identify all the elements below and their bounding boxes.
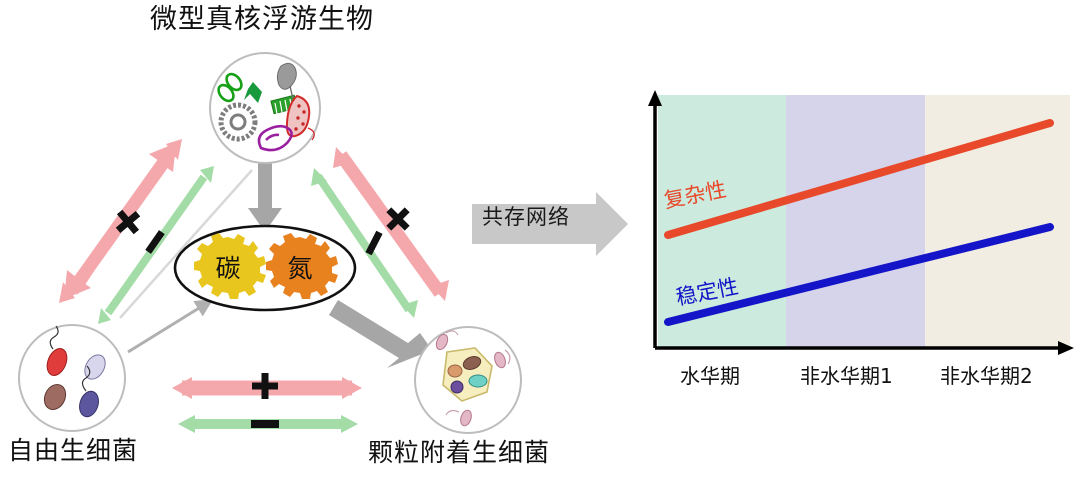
nutrient-cycle-oval: 碳 氮 — [175, 226, 355, 310]
gear-carbon-label: 碳 — [215, 254, 240, 283]
chart-band-nonbloom2 — [925, 95, 1070, 348]
chart-xtick-nonbloom1: 非水华期1 — [800, 360, 893, 389]
particle-attached-bacteria-circle — [415, 327, 521, 433]
free-living-bacteria-circle — [19, 325, 125, 431]
flow-arrow-pa-to-center — [329, 300, 432, 368]
interaction-arrow-left-positive — [59, 139, 182, 303]
chart-xtick-nonbloom2: 非水华期2 — [940, 360, 1033, 389]
figure-canvas: 碳 氮 — [0, 0, 1080, 485]
chart-panel — [648, 90, 1074, 355]
sign-bottom-negative — [251, 420, 279, 428]
label-free-living-bacteria: 自由生细菌 — [8, 438, 138, 463]
flow-arrow-fl-to-center — [128, 300, 212, 352]
diagram-layer: 碳 氮 — [0, 0, 1080, 485]
label-coexistence-network: 共存网络 — [482, 207, 570, 228]
page-title-microeukaryotes: 微型真核浮游生物 — [150, 6, 374, 33]
label-particle-attached-bacteria: 颗粒附着生细菌 — [368, 440, 550, 465]
gear-nitrogen-label: 氮 — [287, 254, 312, 283]
flow-arrow-euk-to-center — [248, 156, 282, 232]
micro-eukaryote-circle — [210, 53, 320, 163]
chart-xtick-bloom: 水华期 — [680, 360, 740, 389]
chart-band-nonbloom1 — [786, 95, 925, 348]
